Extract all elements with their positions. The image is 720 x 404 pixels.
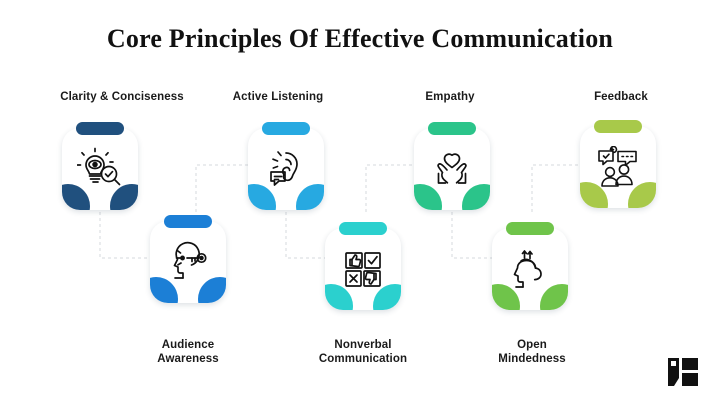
label-audience-awareness: Audience Awareness [118, 338, 258, 366]
label-line: Open [462, 338, 602, 352]
card-clarity-conciseness[interactable] [62, 122, 138, 210]
lightbulb-eye-magnifier-icon [62, 128, 138, 210]
open-head-arrows-icon [492, 228, 568, 310]
label-open-mindedness: Open Mindedness [462, 338, 602, 366]
ear-speech-bubble-icon [248, 128, 324, 210]
thumbs-check-grid-icon [325, 228, 401, 310]
label-nonverbal-communication: Nonverbal Communication [288, 338, 438, 366]
label-active-listening: Active Listening [198, 90, 358, 104]
card-feedback[interactable] [580, 120, 656, 208]
brand-logo [668, 358, 698, 386]
head-key-icon [150, 221, 226, 303]
label-line: Nonverbal [288, 338, 438, 352]
card-empathy[interactable] [414, 122, 490, 210]
infographic-canvas: Core Principles Of Effective Communicati… [0, 0, 720, 404]
label-line: Audience [118, 338, 258, 352]
label-feedback: Feedback [556, 90, 686, 104]
heart-in-hands-icon [414, 128, 490, 210]
label-clarity-conciseness: Clarity & Conciseness [32, 90, 212, 104]
label-line: Awareness [118, 352, 258, 366]
label-empathy: Empathy [380, 90, 520, 104]
card-audience-awareness[interactable] [150, 215, 226, 303]
card-open-mindedness[interactable] [492, 222, 568, 310]
label-line: Communication [288, 352, 438, 366]
people-speech-bubbles-icon [580, 126, 656, 208]
card-active-listening[interactable] [248, 122, 324, 210]
card-nonverbal-communication[interactable] [325, 222, 401, 310]
label-line: Mindedness [462, 352, 602, 366]
page-title: Core Principles Of Effective Communicati… [0, 24, 720, 54]
